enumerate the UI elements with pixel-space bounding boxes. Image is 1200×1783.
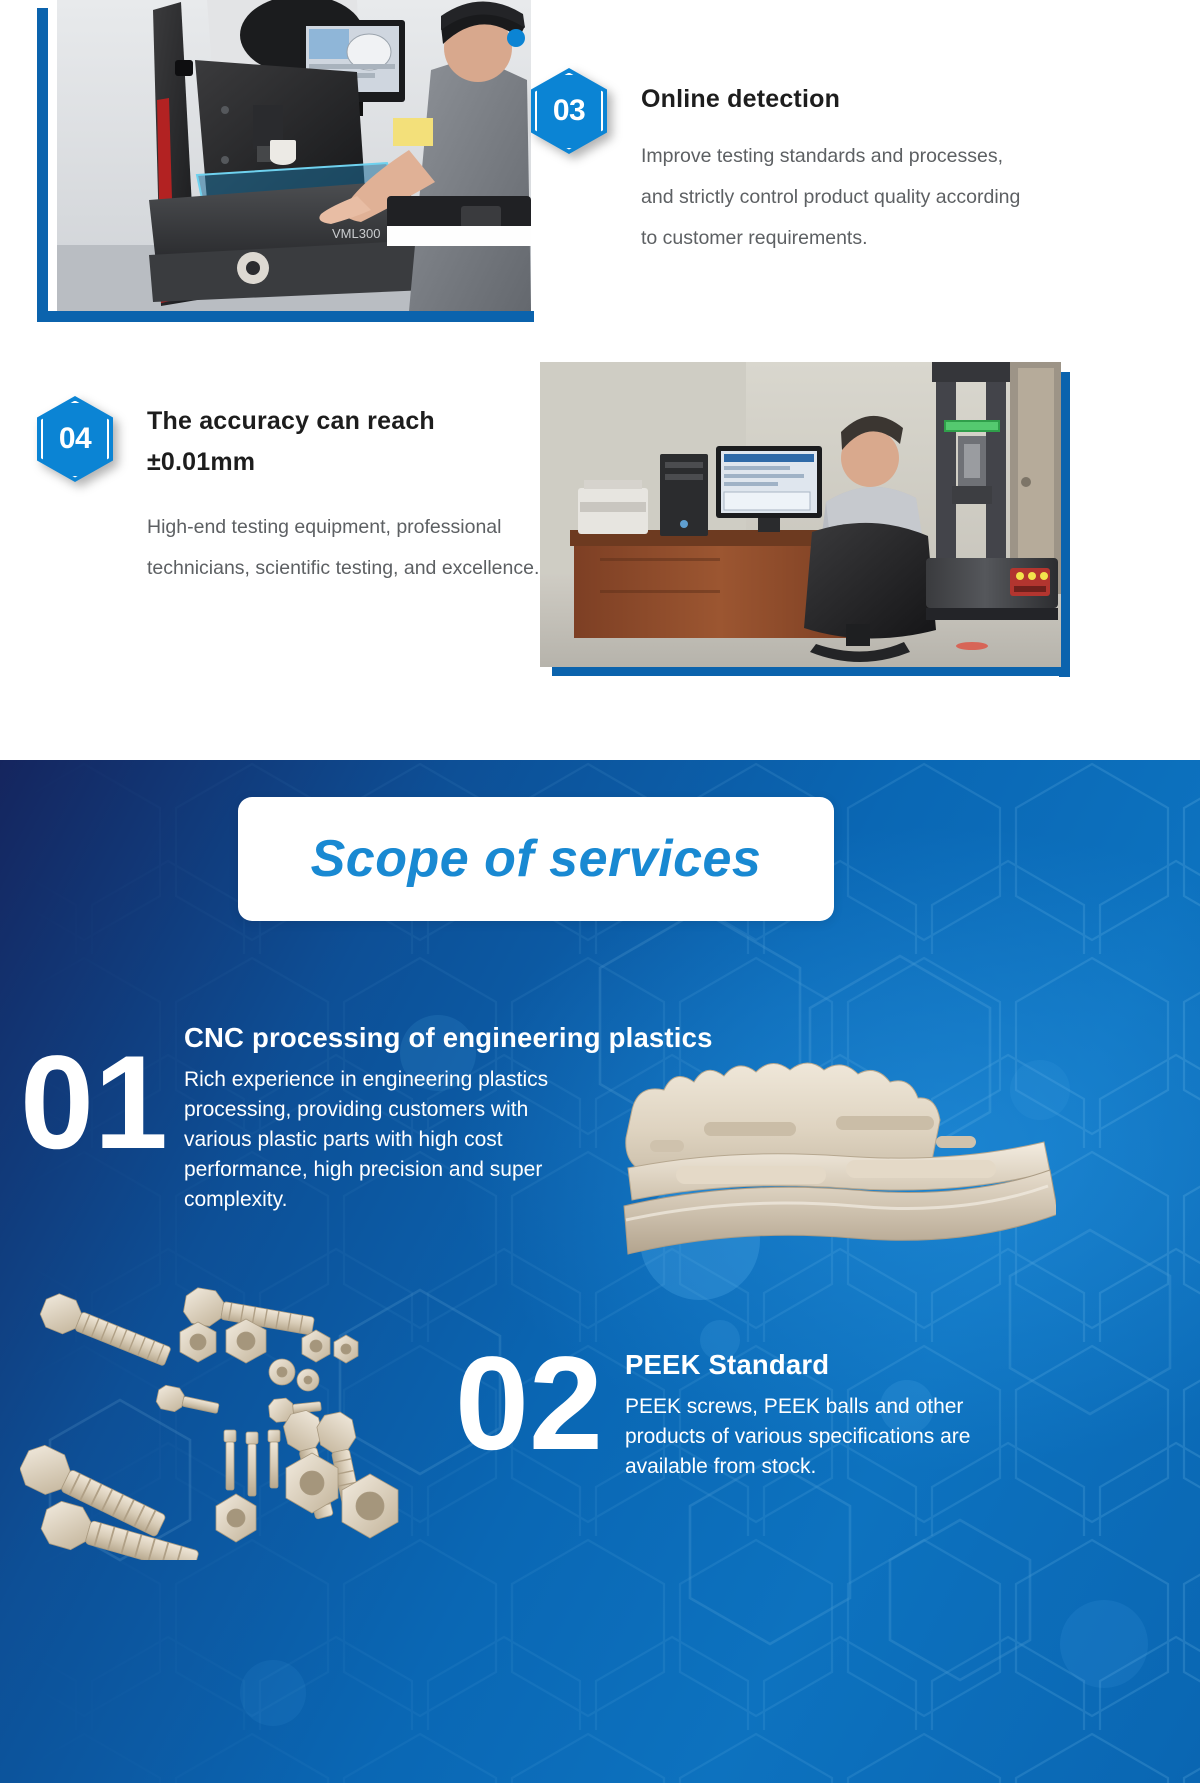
accuracy-testing-photo-image [540, 362, 1061, 667]
service-number: 02 [455, 1341, 603, 1467]
service-title: PEEK Standard [625, 1349, 995, 1381]
page-title: Scope of services [311, 829, 762, 889]
service-title: CNC processing of engineering plastics [184, 1022, 713, 1054]
service-body: PEEK screws, PEEK balls and other produc… [625, 1392, 995, 1482]
online-detection-photo: VML300 [57, 0, 531, 311]
accuracy-testing-photo-frame [540, 362, 1070, 682]
badge-03: 03 [531, 68, 607, 154]
feature-title: Online detection [641, 79, 1035, 120]
feature-accuracy: 04 The accuracy can reach ±0.01mm High-e… [37, 396, 557, 589]
scope-title-card: Scope of services [238, 797, 834, 921]
badge-number: 03 [531, 68, 607, 154]
feature-body: Improve testing standards and processes,… [641, 136, 1035, 259]
peek-screws-photo [20, 1280, 450, 1560]
svg-text:VML300: VML300 [332, 226, 380, 241]
service-cnc-processing: 01 CNC processing of engineering plastic… [20, 1022, 980, 1215]
badge-04: 04 [37, 396, 113, 482]
feature-title: The accuracy can reach ±0.01mm [147, 401, 492, 483]
service-number: 01 [20, 1040, 168, 1166]
photo-frame-accent-left [37, 8, 48, 322]
features-section: VML300 03 [0, 0, 1200, 868]
accuracy-testing-photo [540, 362, 1061, 667]
feature-body: High-end testing equipment, professional… [147, 507, 577, 589]
service-body: Rich experience in engineering plastics … [184, 1065, 584, 1215]
feature-online-detection: 03 Online detection Improve testing stan… [531, 68, 1051, 259]
photo-frame-accent-bottom [45, 311, 534, 322]
online-detection-photo-frame: VML300 [37, 0, 534, 330]
scope-of-services-section: Scope of services [0, 760, 1200, 1783]
badge-number: 04 [37, 396, 113, 482]
peek-screws-image [20, 1280, 450, 1560]
service-peek-standard: 02 PEEK Standard PEEK screws, PEEK balls… [455, 1349, 1200, 1482]
online-detection-photo-image: VML300 [57, 0, 531, 311]
